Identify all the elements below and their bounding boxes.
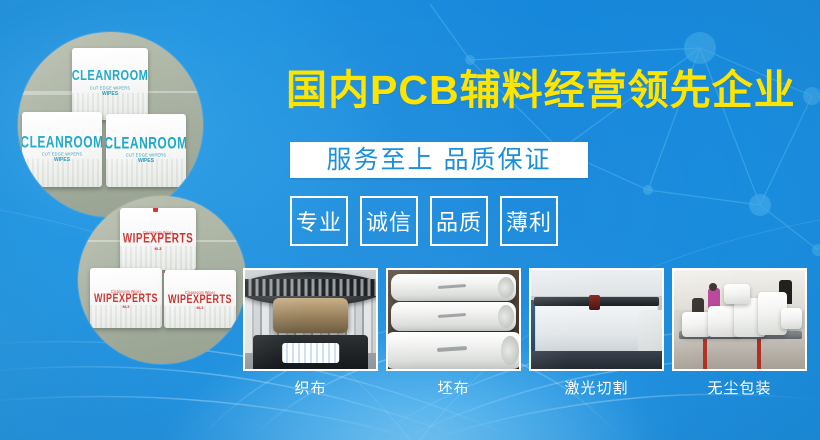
pack-texture <box>164 306 236 328</box>
cleanroom-pack-top: CLEANROOM CUT EDGE WIPERS WIPES <box>72 48 148 120</box>
pack-brand-text: CLEANROOM <box>72 69 148 84</box>
feature-tag-low-margin[interactable]: 薄利 <box>500 196 558 246</box>
subtitle-text: 服务至上 品质保证 <box>327 148 552 173</box>
process-caption: 坯布 <box>386 377 521 398</box>
process-photo-laser-cutter[interactable] <box>529 268 664 371</box>
table-leg-left <box>703 339 707 369</box>
process-caption: 无尘包装 <box>672 377 807 398</box>
roll-label-mark <box>438 313 466 318</box>
promotional-banner: CLEANROOM CUT EDGE WIPERS WIPES CLEANROO… <box>0 0 820 440</box>
packed-bale <box>781 308 802 330</box>
pack-texture <box>120 246 196 270</box>
process-photo-knitting-machine[interactable] <box>243 268 378 371</box>
pack-texture <box>22 159 102 188</box>
pack-subtext: CUT EDGE WIPERS <box>126 152 167 158</box>
cleanroom-pack-left: CLEANROOM CUT EDGE WIPERS WIPES <box>22 112 102 187</box>
pack-brand-text: WIPEXPERTS <box>123 233 194 247</box>
pack-texture <box>106 159 186 187</box>
subtitle-bar: 服务至上 品质保证 <box>290 142 588 178</box>
packed-bale <box>724 284 750 304</box>
fabric-output <box>282 343 340 363</box>
roll-label-mark <box>437 346 467 352</box>
process-caption: 激光切割 <box>529 377 664 398</box>
pack-subtext: CUT EDGE WIPERS <box>42 151 83 157</box>
pack-brand-text: CLEANROOM <box>106 135 186 151</box>
pack-brand-text: WIPEXPERTS <box>168 293 232 305</box>
machine-ring-detail <box>243 279 378 297</box>
roll-label-mark <box>438 284 466 289</box>
roll-end-cap <box>498 305 514 329</box>
pack-red-mark <box>164 270 165 273</box>
pack-brand-text: CLEANROOM <box>22 134 102 150</box>
pack-red-mark <box>153 208 158 212</box>
feature-tag-quality[interactable]: 品质 <box>430 196 488 246</box>
page-title: 国内PCB辅料经营领先企业 <box>286 70 796 111</box>
wipexperts-pack-top: Cleanroom Wiper WIPEXPERTS M-3 <box>120 208 196 270</box>
process-item-laser-cutting[interactable]: 激光切割 <box>529 268 664 398</box>
process-caption: 织布 <box>243 377 378 398</box>
product-photo-wipexperts: Cleanroom Wiper WIPEXPERTS M-3 Cleanroom… <box>78 196 246 364</box>
packed-bale <box>682 312 711 338</box>
table-leg-right <box>757 339 761 369</box>
wipexperts-pack-right: Cleanroom Wiper WIPEXPERTS M-3 <box>164 270 236 328</box>
fabric-roll-top <box>391 274 517 301</box>
pack-texture <box>90 305 162 328</box>
pack-brand-text: WIPEXPERTS <box>94 292 158 304</box>
cleanroom-pack-right: CLEANROOM CUT EDGE WIPERS WIPES <box>106 114 186 187</box>
process-item-weaving[interactable]: 织布 <box>243 268 378 398</box>
wipexperts-pack-left: Cleanroom Wiper WIPEXPERTS M-3 <box>90 268 162 328</box>
machine-front-panel <box>531 351 662 369</box>
process-photo-packing-area[interactable] <box>672 268 807 371</box>
feature-tag-list: 专业 诚信 品质 薄利 <box>290 196 558 246</box>
laser-head <box>589 295 601 310</box>
machine-drum <box>273 298 349 334</box>
room-wall <box>531 270 662 296</box>
worker-head-1 <box>709 283 717 291</box>
process-item-greige-fabric[interactable]: 坯布 <box>386 268 521 398</box>
photo-floor-line-2 <box>18 93 74 95</box>
feature-tag-integrity[interactable]: 诚信 <box>360 196 418 246</box>
roll-end-cap <box>498 277 514 298</box>
process-item-cleanroom-packing[interactable]: 无尘包装 <box>672 268 807 398</box>
process-gallery: 织布 坯布 <box>243 268 807 398</box>
fabric-roll-middle <box>391 302 517 332</box>
roll-end-cap <box>501 336 519 365</box>
process-photo-fabric-rolls[interactable] <box>386 268 521 371</box>
pack-subtext: CUT EDGE WIPERS <box>90 85 131 91</box>
fabric-roll-bottom <box>386 332 521 369</box>
product-photo-cleanroom: CLEANROOM CUT EDGE WIPERS WIPES CLEANROO… <box>18 32 203 217</box>
feature-tag-professional[interactable]: 专业 <box>290 196 348 246</box>
